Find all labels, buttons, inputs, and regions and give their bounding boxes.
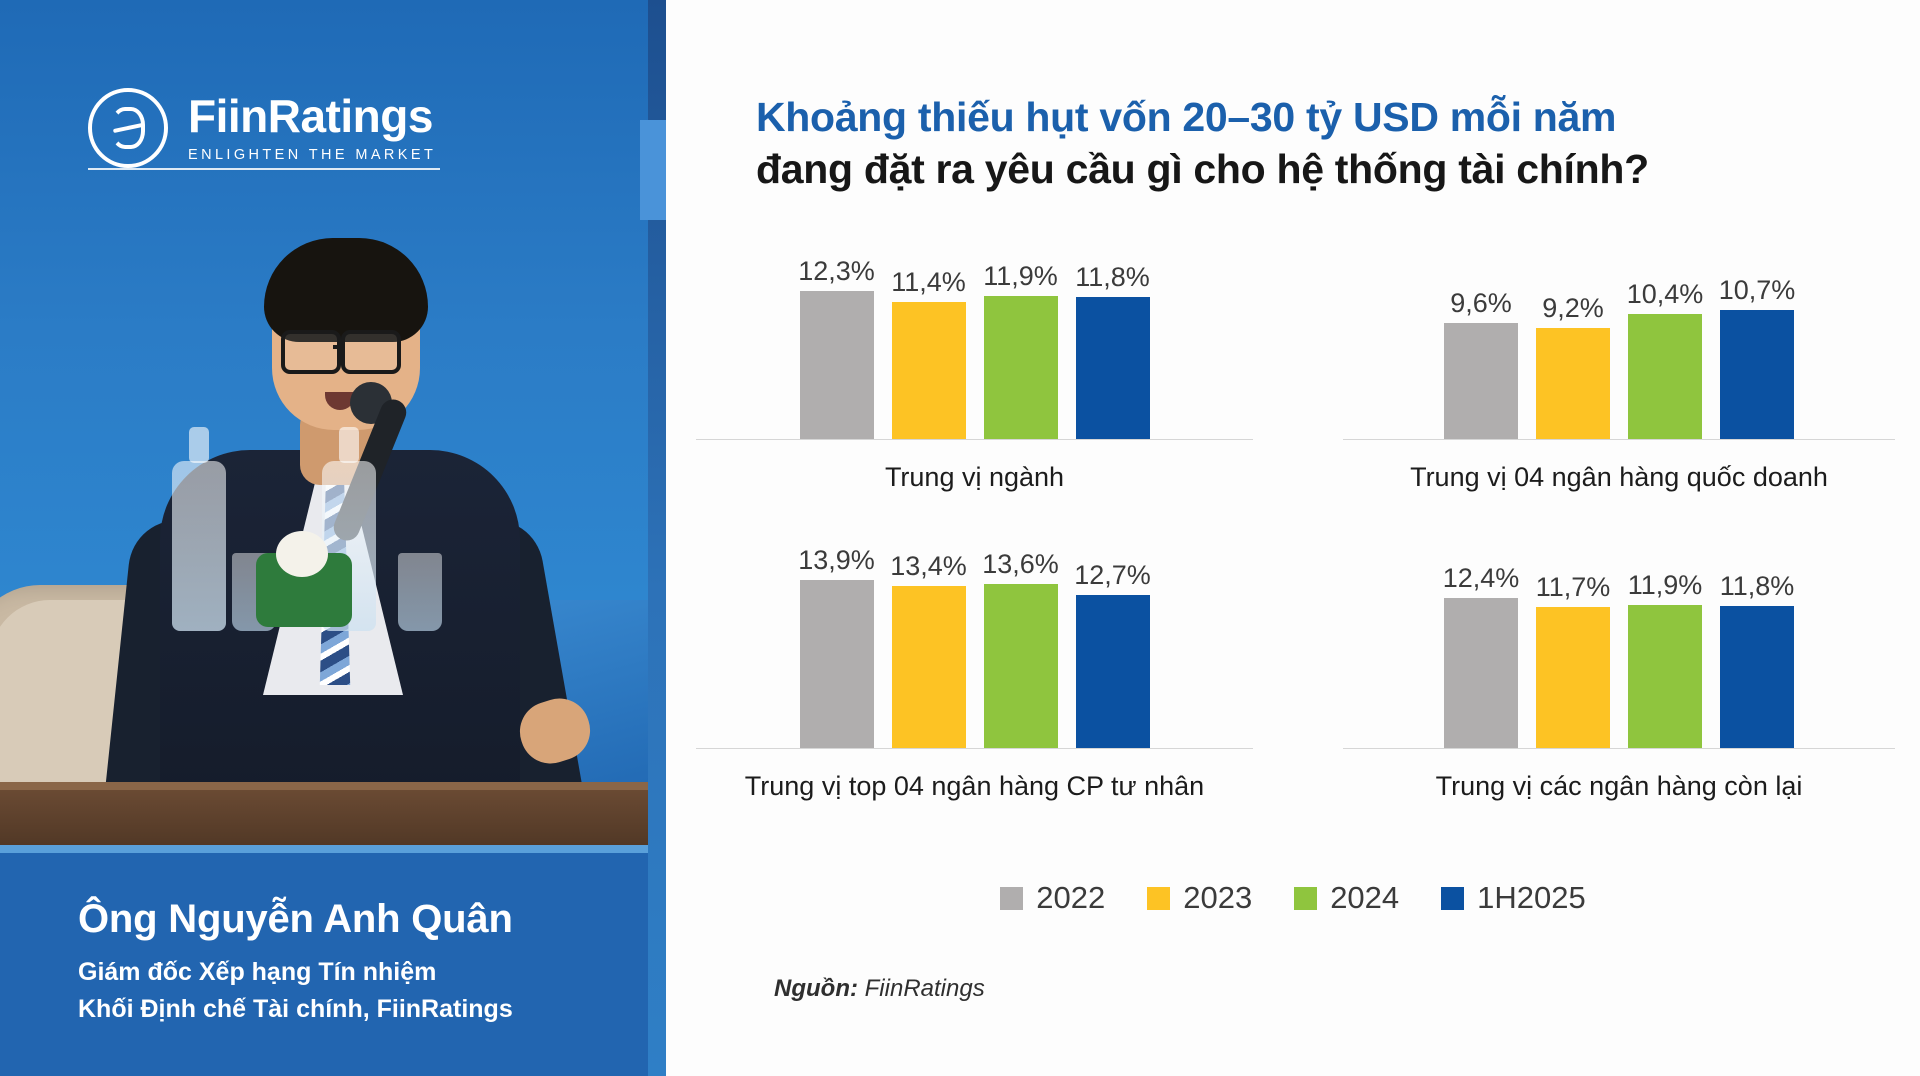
logo-divider bbox=[88, 168, 440, 170]
chart-plot-3: 12,4%11,7%11,9%11,8% bbox=[1343, 539, 1895, 749]
legend-swatch-icon bbox=[1147, 887, 1170, 910]
legend-swatch-icon bbox=[1294, 887, 1317, 910]
bar-value-label: 9,2% bbox=[1542, 293, 1604, 324]
bar-group-3: 12,4%11,7%11,9%11,8% bbox=[1343, 539, 1895, 749]
bar-2024 bbox=[984, 584, 1058, 749]
bar-group-0: 12,3%11,4%11,9%11,8% bbox=[696, 230, 1253, 440]
bar-value-label: 11,8% bbox=[1075, 262, 1150, 293]
bar-item: 11,8% bbox=[1720, 539, 1794, 749]
bar-value-label: 11,9% bbox=[983, 261, 1058, 292]
chart-panel-1: 9,6%9,2%10,4%10,7% Trung vị 04 ngân hàng… bbox=[1293, 230, 1920, 493]
speaker-name: Ông Nguyễn Anh Quân bbox=[78, 897, 582, 941]
bar-item: 12,4% bbox=[1444, 539, 1518, 749]
accent-bar-light bbox=[640, 120, 666, 220]
bar-item: 10,4% bbox=[1628, 230, 1702, 440]
bar-1H2025 bbox=[1720, 310, 1794, 440]
bar-value-label: 12,3% bbox=[798, 256, 875, 287]
bar-2023 bbox=[892, 586, 966, 749]
legend-label: 2023 bbox=[1183, 880, 1252, 916]
page-title: Khoảng thiếu hụt vốn 20–30 tỷ USD mỗi nă… bbox=[756, 92, 1876, 195]
chart-plot-2: 13,9%13,4%13,6%12,7% bbox=[696, 539, 1253, 749]
legend-item-2024: 2024 bbox=[1294, 880, 1399, 916]
bar-item: 11,8% bbox=[1076, 230, 1150, 440]
bar-item: 13,6% bbox=[984, 539, 1058, 749]
speaker-role-line-2: Khối Định chế Tài chính, FiinRatings bbox=[78, 992, 582, 1027]
bar-item: 13,9% bbox=[800, 539, 874, 749]
bar-item: 12,7% bbox=[1076, 539, 1150, 749]
bar-2023 bbox=[892, 302, 966, 440]
bar-item: 10,7% bbox=[1720, 230, 1794, 440]
slide-root: FiinRatings ENLIGHTEN THE MARKET Ông Ngu… bbox=[0, 0, 1920, 1076]
bar-value-label: 11,9% bbox=[1628, 570, 1703, 601]
brand-logo: FiinRatings ENLIGHTEN THE MARKET bbox=[88, 88, 436, 168]
bar-item: 9,2% bbox=[1536, 230, 1610, 440]
bar-value-label: 12,4% bbox=[1443, 563, 1520, 594]
bar-1H2025 bbox=[1720, 606, 1794, 749]
speaker-caption: Ông Nguyễn Anh Quân Giám đốc Xếp hạng Tí… bbox=[0, 853, 648, 1076]
bar-value-label: 11,7% bbox=[1536, 572, 1611, 603]
source-label: Nguồn: bbox=[774, 975, 858, 1002]
legend-swatch-icon bbox=[1000, 887, 1023, 910]
bar-2024 bbox=[1628, 314, 1702, 440]
bar-1H2025 bbox=[1076, 297, 1150, 440]
title-line-1: Khoảng thiếu hụt vốn 20–30 tỷ USD mỗi nă… bbox=[756, 92, 1876, 144]
chart-axis-2 bbox=[696, 748, 1253, 749]
bar-value-label: 13,9% bbox=[798, 545, 875, 576]
bar-value-label: 13,4% bbox=[890, 551, 967, 582]
brand-name: FiinRatings bbox=[188, 90, 433, 142]
legend-item-1H2025: 1H2025 bbox=[1441, 880, 1586, 916]
bar-value-label: 11,4% bbox=[891, 267, 966, 298]
source-value: FiinRatings bbox=[865, 975, 985, 1002]
legend-label: 2022 bbox=[1036, 880, 1105, 916]
bar-2024 bbox=[1628, 605, 1702, 749]
bar-group-2: 13,9%13,4%13,6%12,7% bbox=[696, 539, 1253, 749]
bar-item: 11,9% bbox=[1628, 539, 1702, 749]
legend-item-2023: 2023 bbox=[1147, 880, 1252, 916]
bar-2022 bbox=[1444, 598, 1518, 749]
bar-item: 13,4% bbox=[892, 539, 966, 749]
bar-2023 bbox=[1536, 328, 1610, 440]
bar-item: 12,3% bbox=[800, 230, 874, 440]
legend-swatch-icon bbox=[1441, 887, 1464, 910]
legend-item-2022: 2022 bbox=[1000, 880, 1105, 916]
chart-title-0: Trung vị ngành bbox=[696, 462, 1253, 493]
brand-logo-text: FiinRatings ENLIGHTEN THE MARKET bbox=[188, 93, 436, 163]
legend-label: 2024 bbox=[1330, 880, 1399, 916]
chart-axis-0 bbox=[696, 439, 1253, 440]
chart-panel-3: 12,4%11,7%11,9%11,8% Trung vị các ngân h… bbox=[1293, 539, 1920, 802]
bar-2022 bbox=[1444, 323, 1518, 440]
bar-value-label: 13,6% bbox=[982, 549, 1059, 580]
chart-panel-0: 12,3%11,4%11,9%11,8% Trung vị ngành bbox=[666, 230, 1293, 493]
speaker-photo: FiinRatings ENLIGHTEN THE MARKET bbox=[0, 0, 648, 845]
content-area: Khoảng thiếu hụt vốn 20–30 tỷ USD mỗi nă… bbox=[666, 0, 1920, 1076]
chart-row-bottom: 13,9%13,4%13,6%12,7% Trung vị top 04 ngâ… bbox=[666, 539, 1920, 802]
chart-title-2: Trung vị top 04 ngân hàng CP tư nhân bbox=[696, 771, 1253, 802]
speaker-panel: FiinRatings ENLIGHTEN THE MARKET Ông Ngu… bbox=[0, 0, 648, 1076]
legend-label: 1H2025 bbox=[1477, 880, 1586, 916]
chart-plot-1: 9,6%9,2%10,4%10,7% bbox=[1343, 230, 1895, 440]
bar-item: 11,7% bbox=[1536, 539, 1610, 749]
bar-value-label: 12,7% bbox=[1074, 560, 1151, 591]
bar-value-label: 11,8% bbox=[1720, 571, 1795, 602]
chart-title-1: Trung vị 04 ngân hàng quốc doanh bbox=[1343, 462, 1895, 493]
chart-plot-0: 12,3%11,4%11,9%11,8% bbox=[696, 230, 1253, 440]
bar-1H2025 bbox=[1076, 595, 1150, 749]
bar-2022 bbox=[800, 580, 874, 749]
fiin-circle-logo-icon bbox=[88, 88, 168, 168]
brand-tagline: ENLIGHTEN THE MARKET bbox=[188, 148, 436, 163]
chart-legend: 2022202320241H2025 bbox=[666, 880, 1920, 916]
speaker-role-line-1: Giám đốc Xếp hạng Tín nhiệm bbox=[78, 955, 582, 990]
title-line-2: đang đặt ra yêu cầu gì cho hệ thống tài … bbox=[756, 144, 1876, 196]
bar-value-label: 10,7% bbox=[1719, 275, 1796, 306]
bar-item: 11,4% bbox=[892, 230, 966, 440]
chart-axis-1 bbox=[1343, 439, 1895, 440]
bar-2022 bbox=[800, 291, 874, 440]
chart-panel-2: 13,9%13,4%13,6%12,7% Trung vị top 04 ngâ… bbox=[666, 539, 1293, 802]
bar-value-label: 10,4% bbox=[1627, 279, 1704, 310]
bar-2024 bbox=[984, 296, 1058, 440]
panel-divider bbox=[0, 845, 648, 853]
bar-value-label: 9,6% bbox=[1450, 288, 1512, 319]
bar-item: 9,6% bbox=[1444, 230, 1518, 440]
chart-axis-3 bbox=[1343, 748, 1895, 749]
chart-row-top: 12,3%11,4%11,9%11,8% Trung vị ngành 9,6%… bbox=[666, 230, 1920, 493]
bar-2023 bbox=[1536, 607, 1610, 749]
charts-grid: 12,3%11,4%11,9%11,8% Trung vị ngành 9,6%… bbox=[666, 230, 1920, 870]
source-note: Nguồn: FiinRatings bbox=[774, 975, 985, 1003]
bar-group-1: 9,6%9,2%10,4%10,7% bbox=[1343, 230, 1895, 440]
bar-item: 11,9% bbox=[984, 230, 1058, 440]
chart-title-3: Trung vị các ngân hàng còn lại bbox=[1343, 771, 1895, 802]
